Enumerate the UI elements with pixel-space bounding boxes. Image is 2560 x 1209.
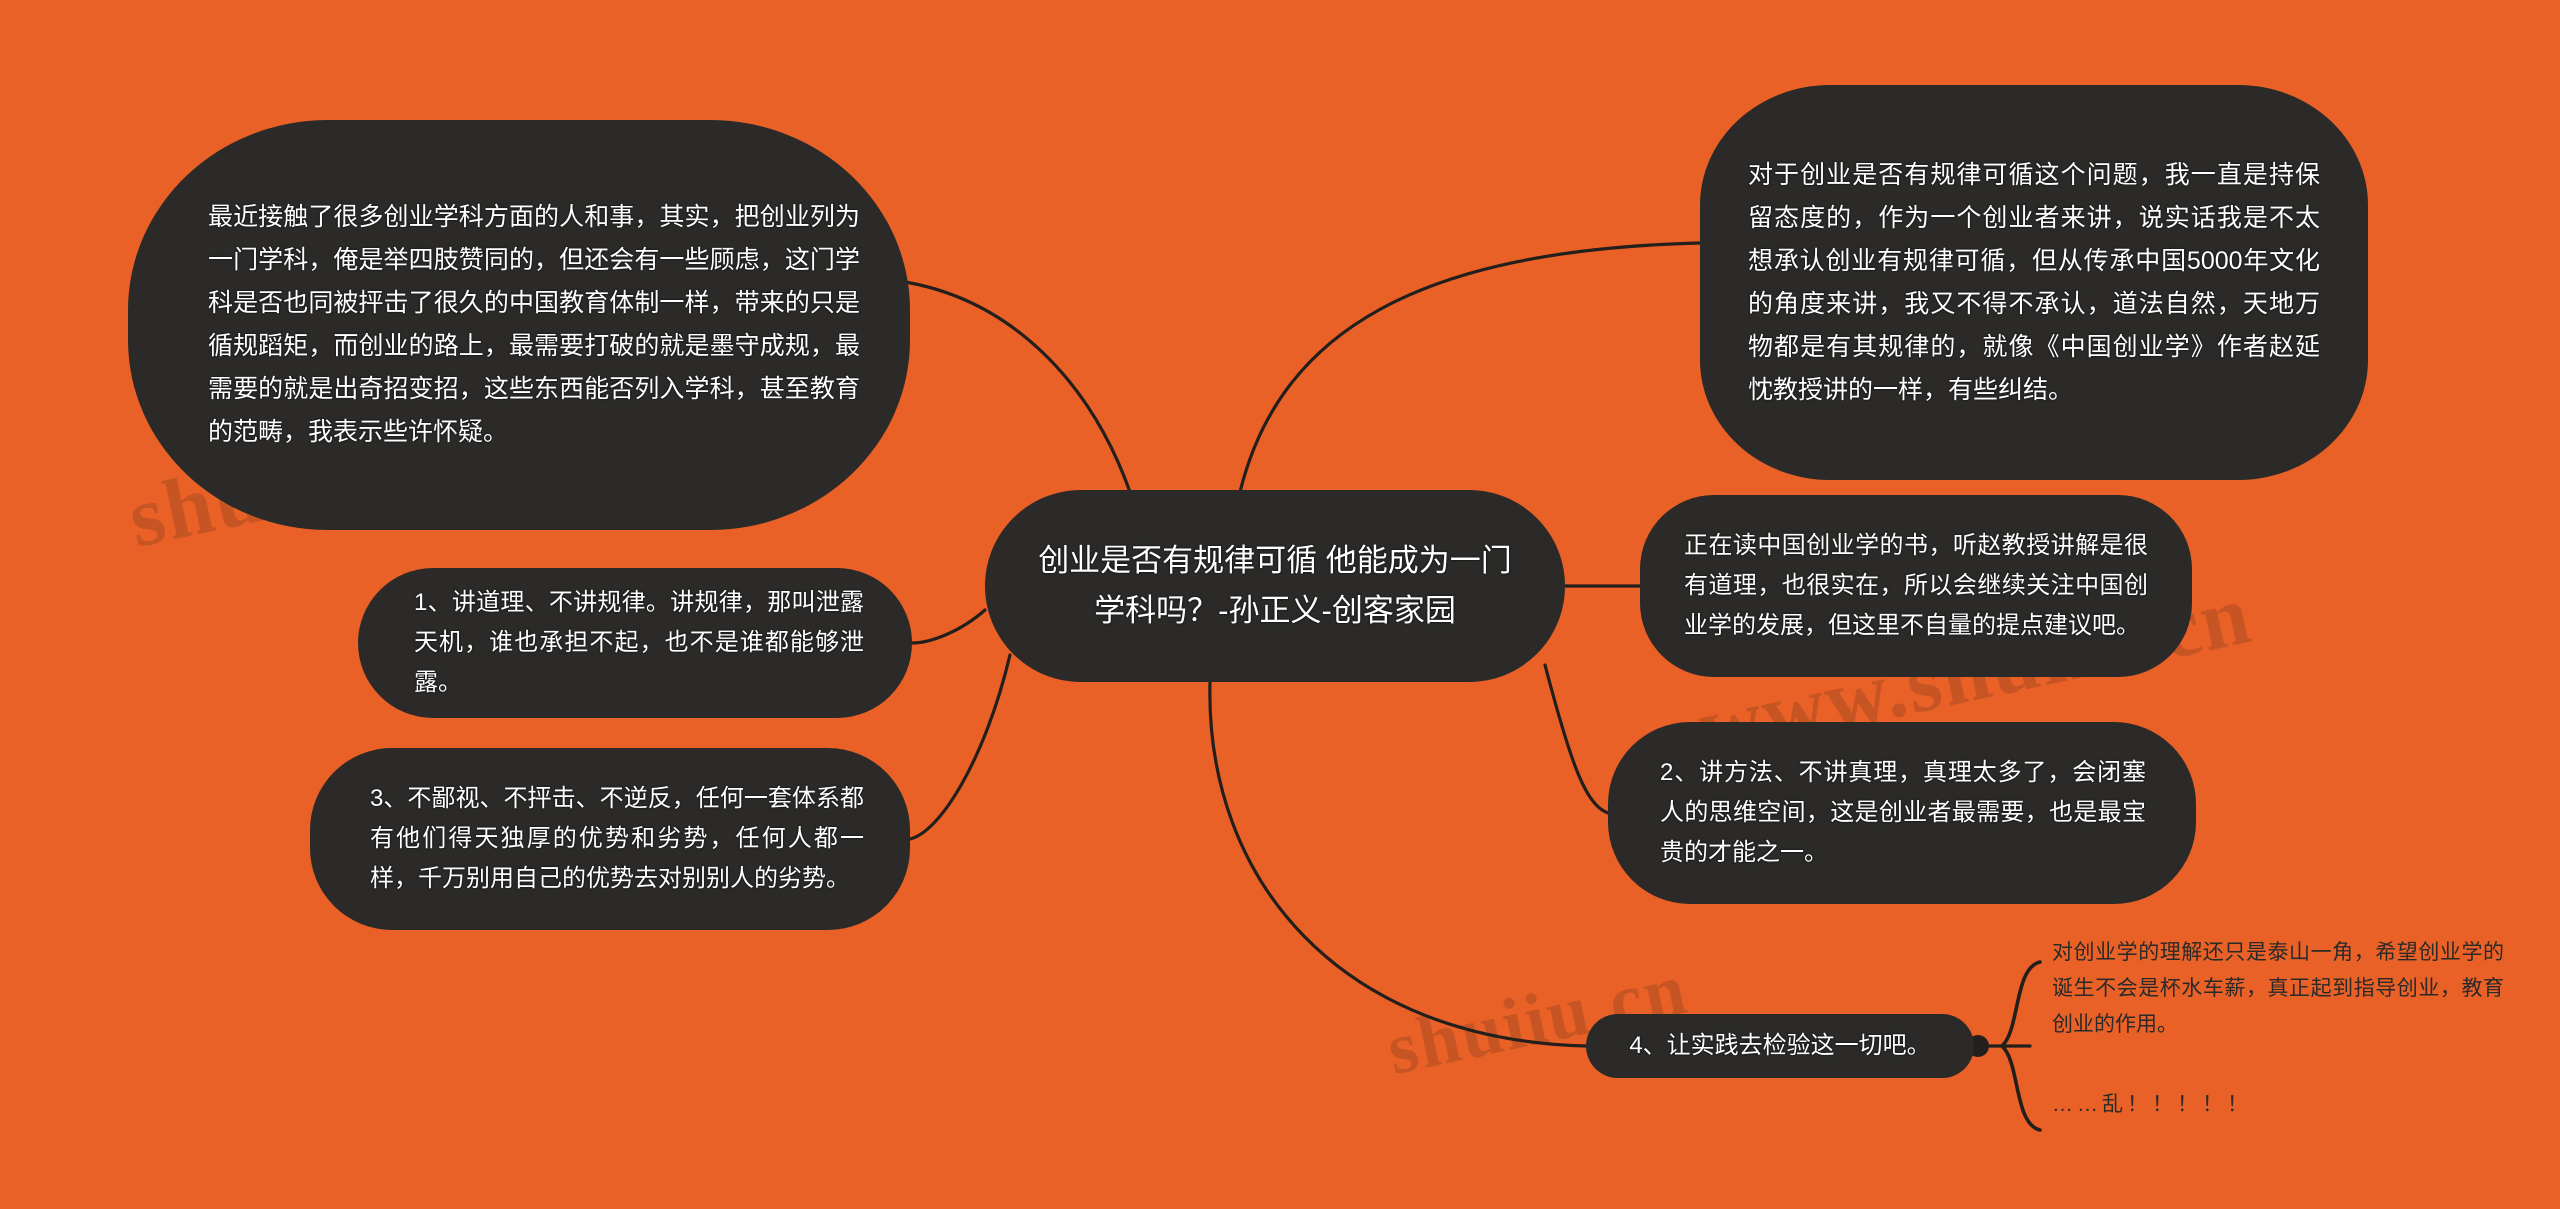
branch-text: 正在读中国创业学的书，听赵教授讲解是很有道理，也很实在，所以会继续关注中国创业学… (1684, 526, 2148, 647)
central-topic-text: 创业是否有规律可循 他能成为一门学科吗？-孙正义-创客家园 (1033, 536, 1517, 636)
branch-node-topleft[interactable]: 最近接触了很多创业学科方面的人和事，其实，把创业列为一门学科，俺是举四肢赞同的，… (128, 120, 910, 530)
mindmap-canvas: shuiiu.cn shuiiu.cn www.shuiiu.cn shuiiu… (0, 0, 2560, 1209)
connector-right-2 (1545, 665, 1608, 813)
connector-left-1 (912, 610, 985, 643)
branch-node-topright[interactable]: 对于创业是否有规律可循这个问题，我一直是持保留态度的，作为一个创业者来讲，说实话… (1700, 85, 2368, 480)
branch-text: 4、让实践去检验这一切吧。 (1612, 1029, 1948, 1063)
branch-node-left-3[interactable]: 3、不鄙视、不抨击、不逆反，任何一套体系都有他们得天独厚的优势和劣势，任何人都一… (310, 748, 910, 930)
branch-text: 1、讲道理、不讲规律。讲规律，那叫泄露天机，谁也承担不起，也不是谁都能够泄露。 (414, 583, 864, 702)
branch-text: 最近接触了很多创业学科方面的人和事，其实，把创业列为一门学科，俺是举四肢赞同的，… (208, 196, 860, 454)
connector-left-3 (910, 655, 1010, 839)
branch-text: 2、讲方法、不讲真理，真理太多了，会闭塞人的思维空间，这是创业者最需要，也是最宝… (1660, 753, 2146, 872)
branch-node-bottom-4[interactable]: 4、让实践去检验这一切吧。 (1586, 1014, 1974, 1078)
connector-topright (1240, 243, 1700, 492)
branch-text: 3、不鄙视、不抨击、不逆反，任何一套体系都有他们得天独厚的优势和劣势，任何人都一… (370, 779, 864, 898)
branch-node-right-2[interactable]: 2、讲方法、不讲真理，真理太多了，会闭塞人的思维空间，这是创业者最需要，也是最宝… (1608, 722, 2196, 904)
branch-node-left-1[interactable]: 1、讲道理、不讲规律。讲规律，那叫泄露天机，谁也承担不起，也不是谁都能够泄露。 (358, 568, 912, 718)
annotation-exclamation: ……乱！！！！！ (2052, 1087, 2382, 1123)
annotation-brace (2002, 962, 2040, 1130)
connector-topleft (905, 282, 1130, 492)
branch-text: 对于创业是否有规律可循这个问题，我一直是持保留态度的，作为一个创业者来讲，说实话… (1748, 154, 2320, 412)
central-topic-node[interactable]: 创业是否有规律可循 他能成为一门学科吗？-孙正义-创客家园 (985, 490, 1565, 682)
annotation-text: 对创业学的理解还只是泰山一角，希望创业学的诞生不会是杯水车薪，真正起到指导创业，… (2052, 935, 2504, 1043)
branch-node-right-read[interactable]: 正在读中国创业学的书，听赵教授讲解是很有道理，也很实在，所以会继续关注中国创业学… (1640, 495, 2192, 677)
